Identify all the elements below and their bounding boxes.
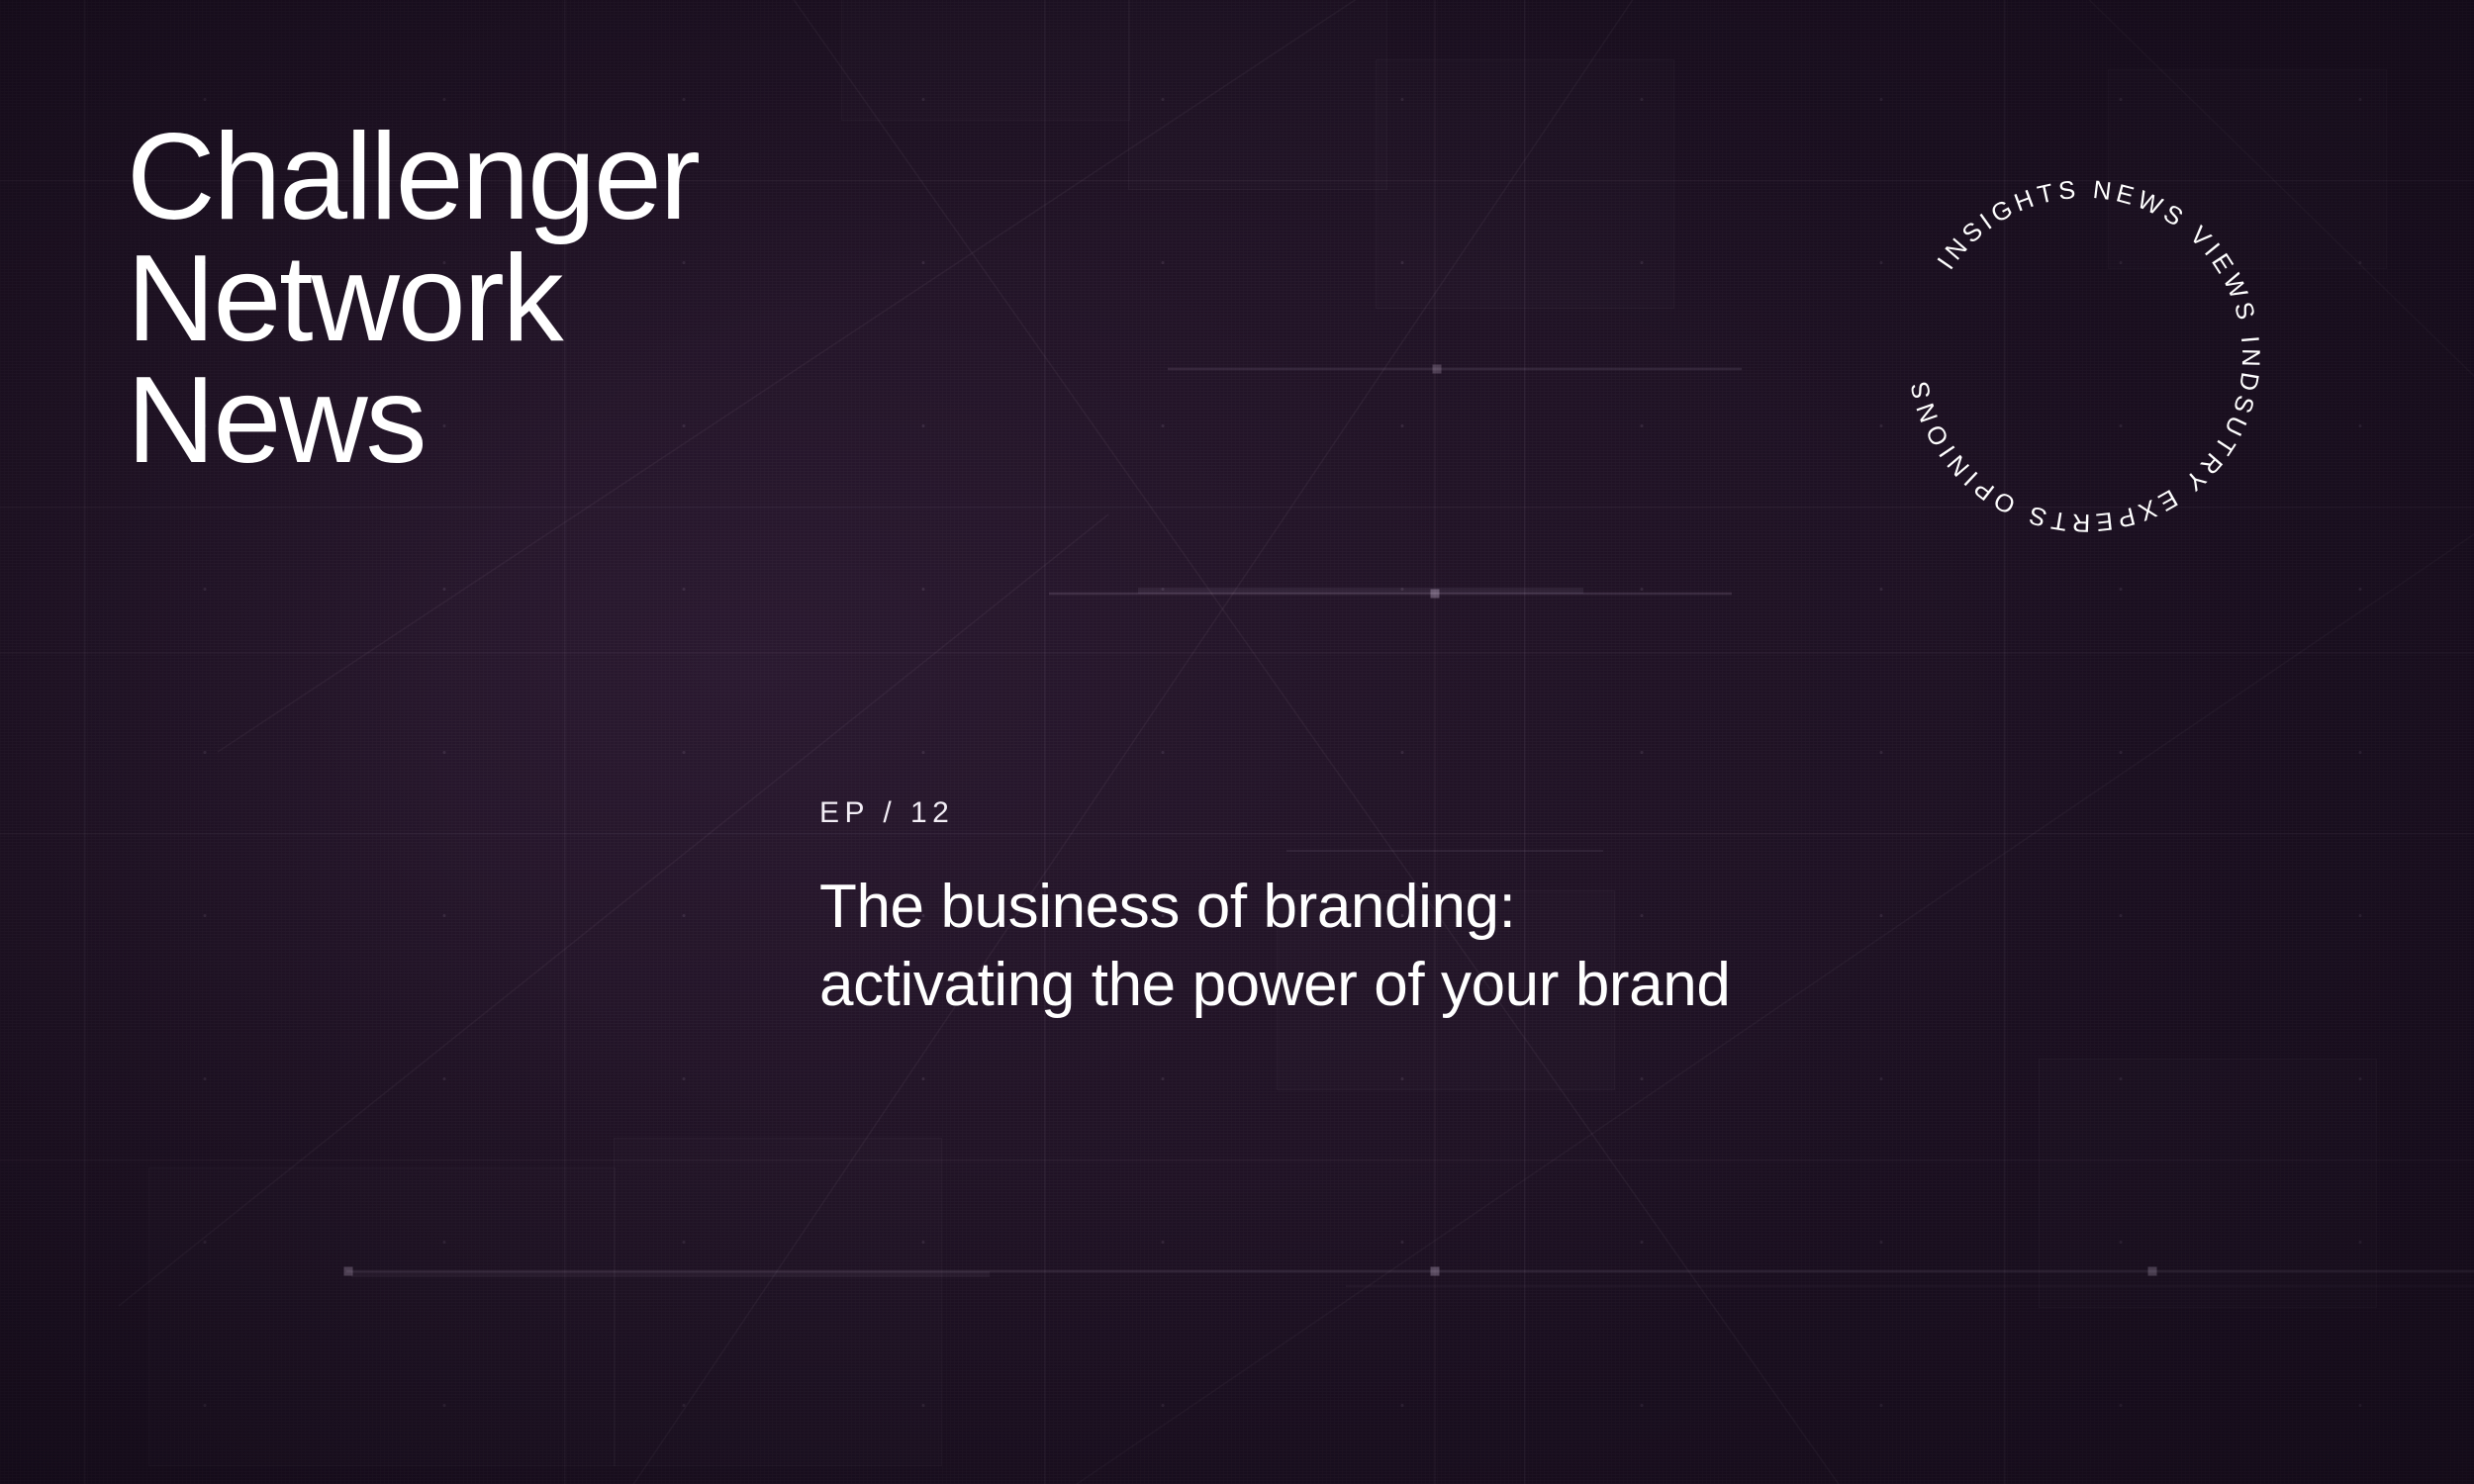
episode-block: EP / 12 The business of branding: activa…: [819, 796, 1730, 1025]
episode-title: The business of branding: activating the…: [819, 868, 1730, 1025]
circular-badge: INSIGHTS NEWS VIEWS INDSUTRY EXPERTS OPI…: [1884, 156, 2284, 556]
circular-badge-textpath: INSIGHTS NEWS VIEWS INDSUTRY EXPERTS OPI…: [1905, 176, 2264, 536]
page-title: Challenger Network News: [127, 117, 699, 481]
circular-badge-text: INSIGHTS NEWS VIEWS INDSUTRY EXPERTS OPI…: [1905, 176, 2264, 536]
circular-text-ring: INSIGHTS NEWS VIEWS INDSUTRY EXPERTS OPI…: [1884, 156, 2284, 556]
poster-canvas: Challenger Network News EP / 12 The busi…: [0, 0, 2474, 1484]
episode-number-label: EP / 12: [819, 796, 1730, 830]
